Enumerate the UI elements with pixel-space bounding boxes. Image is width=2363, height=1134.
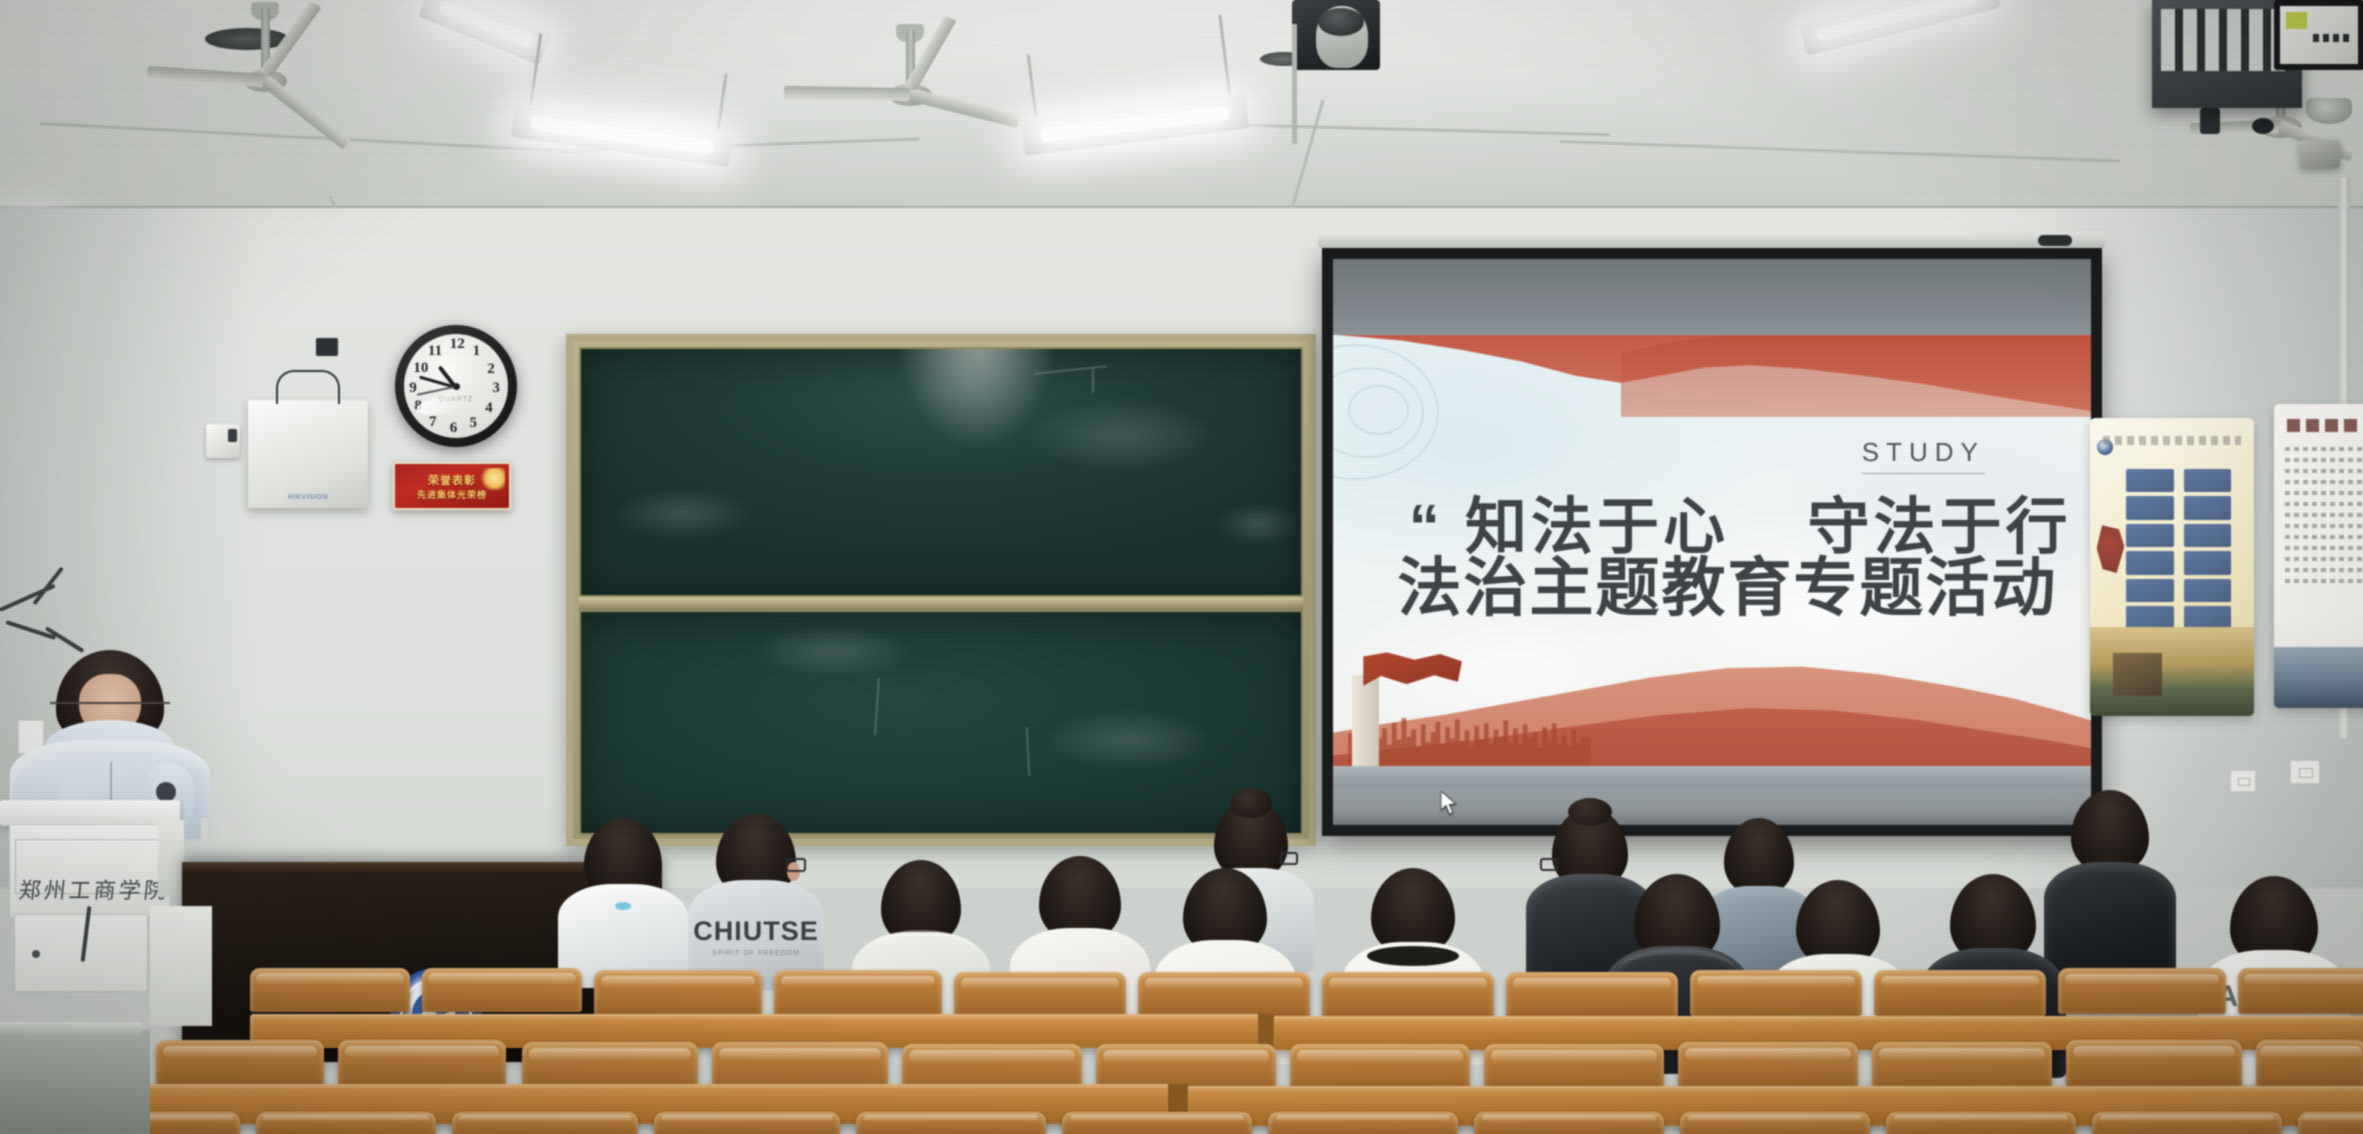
poster-text-line — [2285, 535, 2363, 539]
wall-outlet[interactable] — [2290, 760, 2320, 784]
seat-back[interactable] — [156, 1040, 324, 1088]
podium-side-panel — [158, 820, 183, 897]
projection-screen[interactable]: STUDY “ 知法于心 守法于行 ” 法治主题教育专题活动 — [1322, 248, 2102, 836]
plaque-line-1: 荣誉表彰 — [428, 472, 476, 488]
seat-back[interactable] — [2256, 1040, 2363, 1090]
poster-body-lines — [2285, 447, 2363, 642]
podium-rail-post — [237, 818, 244, 842]
clock-numeral: 5 — [470, 415, 478, 432]
poster-text-line — [2285, 458, 2363, 462]
clock-glass-glare — [415, 391, 471, 419]
poster-character-grid — [2126, 469, 2231, 630]
poster-header-text — [2103, 436, 2241, 445]
seat-row — [60, 1112, 2360, 1134]
clock-numeral: 1 — [473, 343, 481, 360]
student-lanyard — [615, 902, 631, 910]
poster-text-line — [2285, 480, 2363, 484]
slide-decor-ring — [1348, 385, 1409, 435]
clock-numeral: 6 — [450, 420, 458, 437]
poster-seal-character — [2097, 525, 2125, 573]
projector-lens-glass — [1318, 8, 1364, 36]
seat-back[interactable] — [250, 968, 410, 1012]
av-cable — [276, 370, 340, 404]
chalk-ledge — [579, 597, 1303, 610]
coat-hook — [45, 626, 84, 653]
slide-monument — [1352, 675, 1379, 766]
clock-numeral: 3 — [492, 380, 500, 397]
seat-back[interactable] — [2092, 1112, 2282, 1134]
seat-back[interactable] — [1874, 970, 2046, 1016]
student-collar — [1367, 946, 1459, 966]
screen-roller-knob[interactable] — [2038, 235, 2072, 246]
poster-regulations — [2274, 404, 2363, 708]
wall-speaker — [2300, 140, 2340, 168]
seat-back[interactable] — [774, 970, 942, 1016]
chalk-smudge — [1042, 709, 1215, 771]
student-glasses — [786, 858, 806, 872]
screen-roller-housing — [1318, 232, 2106, 248]
poster-text-line — [2285, 579, 2363, 583]
wall-clock: 12 1 2 3 4 5 6 7 8 9 10 11 QUARTZ — [395, 325, 517, 447]
seat-back[interactable] — [594, 970, 762, 1016]
clock-numeral: 7 — [429, 414, 437, 431]
poster-character-cell — [2184, 524, 2231, 547]
seat-back[interactable] — [2298, 1112, 2363, 1134]
student-glasses — [1540, 858, 1558, 871]
poster-text-line — [2285, 546, 2363, 550]
seat-back[interactable] — [452, 1112, 638, 1134]
screen-surface: STUDY “ 知法于心 守法于行 ” 法治主题教育专题活动 — [1333, 259, 2091, 825]
podium-front-panel: 郑州工商学院 — [9, 824, 171, 918]
chalk-smudge — [1027, 398, 1214, 472]
blackboard-frame — [573, 341, 1309, 839]
slide-content: STUDY “ 知法于心 守法于行 ” 法治主题教育专题活动 — [1333, 335, 2091, 788]
seat-back[interactable] — [654, 1112, 840, 1134]
seat-back[interactable] — [1872, 1042, 2052, 1092]
poster-character-cell — [2184, 579, 2231, 602]
student — [558, 818, 688, 988]
ceiling-fan — [150, 8, 380, 118]
poster-character-cell — [2126, 579, 2173, 602]
honor-plaque: 荣誉表彰 先进集体光荣榜 — [393, 462, 511, 510]
chalk-mark — [1026, 727, 1031, 776]
ceiling-mount — [2200, 108, 2220, 134]
podium-calligraphy: 郑州工商学院 — [17, 873, 170, 905]
poster-text-line — [2285, 447, 2363, 451]
chalk-mark — [1092, 369, 1094, 394]
chalk-smudge — [1215, 502, 1301, 546]
student-glasses — [1280, 852, 1298, 865]
poster-text-line — [2285, 469, 2363, 473]
poster-character-cell — [2126, 551, 2173, 574]
wall-monitor — [2274, 0, 2363, 70]
seat-back[interactable] — [256, 1112, 436, 1134]
poster-character-cell — [2126, 469, 2173, 492]
wall-power-plug — [316, 338, 338, 356]
plaque-gold-burst — [479, 468, 505, 490]
seat-back[interactable] — [2238, 968, 2363, 1014]
student-hair-bun — [1230, 788, 1272, 818]
seat-back[interactable] — [2058, 968, 2226, 1014]
seat-back[interactable] — [2066, 1040, 2242, 1090]
chalk-smudge — [610, 487, 754, 541]
presenter-sleeve-patch — [156, 782, 176, 802]
mouse-cursor — [1441, 791, 1459, 817]
poster-photo-strip — [2274, 647, 2363, 708]
classroom-scene: HIKVISION 12 1 2 3 4 5 6 7 8 9 10 11 — [0, 0, 2363, 1134]
poster-text-line — [2285, 502, 2363, 506]
floor-step — [0, 1022, 142, 1036]
plaque-line-2: 先进集体光荣榜 — [417, 488, 487, 501]
slide-red-wave-accent — [1621, 335, 2091, 417]
clock-numeral: 2 — [487, 361, 495, 378]
student-hair-bun — [1568, 798, 1612, 826]
fan-blade — [908, 88, 1020, 128]
slide-headline-line-2: 法治主题教育专题活动 — [1397, 537, 2057, 629]
blackboard — [566, 334, 1316, 846]
poster-text-line — [2285, 568, 2363, 572]
poster-text-line — [2285, 557, 2363, 561]
seat-back[interactable] — [1680, 1112, 1870, 1134]
poster-text-line — [2285, 524, 2363, 528]
seat-back[interactable] — [1678, 1042, 1858, 1092]
poster-character-cell — [2184, 496, 2231, 519]
podium-top-surface — [0, 800, 180, 826]
presenter-glasses — [50, 702, 170, 704]
wall-av-box[interactable]: HIKVISION — [248, 400, 368, 508]
lectern-white-panel — [150, 906, 212, 1026]
clock-center-pin — [453, 383, 460, 390]
clock-numeral: 9 — [409, 380, 417, 397]
speaker-podium: 郑州工商学院 — [0, 800, 180, 918]
student-jacket-subtext: SPIRIT OF FREEDOM — [712, 950, 800, 957]
ceiling-speaker — [2306, 98, 2352, 124]
aisle-floor — [0, 1030, 150, 1134]
seat-back[interactable] — [1506, 972, 1678, 1018]
projector-pole — [1292, 24, 1297, 144]
ceiling-sensor — [2252, 118, 2274, 134]
chalk-mark — [874, 678, 880, 735]
clock-numeral: 4 — [485, 400, 493, 417]
chalk-smudge — [754, 625, 912, 678]
poster-title-text — [2287, 419, 2363, 432]
clock-face: 12 1 2 3 4 5 6 7 8 9 10 11 QUARTZ — [404, 334, 508, 438]
student: CHIUTSE SPIRIT OF FREEDOM — [688, 814, 824, 990]
seat-back[interactable] — [1322, 972, 1494, 1018]
seat-back[interactable] — [1886, 1112, 2076, 1134]
ceiling-fan — [790, 30, 1030, 140]
fan-blade — [147, 66, 266, 87]
clock-numeral: 11 — [428, 343, 442, 360]
coat-hook-rack — [0, 598, 110, 658]
podium-rail-post — [219, 818, 226, 842]
clock-numeral: 10 — [413, 360, 428, 377]
camera-lens — [228, 429, 237, 442]
poster-character-cell — [2126, 496, 2173, 519]
seat-back[interactable] — [1268, 1112, 1458, 1134]
seat-back[interactable] — [1474, 1112, 1664, 1134]
student-jacket-text: CHIUTSE — [693, 916, 819, 947]
poster-core-values — [2090, 418, 2254, 716]
wall-camera — [206, 424, 240, 458]
blackboard-panel-upper — [579, 347, 1303, 597]
poster-character-cell — [2184, 551, 2231, 574]
seat-back[interactable] — [1690, 970, 1862, 1016]
fan-blade — [784, 86, 910, 101]
seat-back[interactable] — [954, 972, 1126, 1018]
poster-character-cell — [2184, 469, 2231, 492]
seat-back[interactable] — [1062, 1112, 1252, 1134]
clock-numeral: 12 — [450, 336, 465, 353]
podium-rail-post — [201, 818, 208, 842]
poster-character-cell — [2126, 524, 2173, 547]
seat-back[interactable] — [422, 968, 582, 1012]
poster-text-line — [2285, 513, 2363, 517]
slide-eyebrow-text: STUDY — [1862, 437, 1985, 474]
slide-baseline — [1333, 766, 2091, 789]
seat-back[interactable] — [856, 1112, 1046, 1134]
monitor-screen — [2280, 6, 2358, 64]
seat-back[interactable] — [338, 1040, 506, 1088]
wall-outlet[interactable] — [2230, 770, 2256, 792]
av-box-logo: HIKVISION — [288, 494, 328, 501]
poster-text-line — [2285, 491, 2363, 495]
seat-back[interactable] — [1138, 972, 1310, 1018]
poster-photo-strip — [2090, 627, 2254, 716]
screen-dead-band-top — [1333, 259, 2091, 335]
